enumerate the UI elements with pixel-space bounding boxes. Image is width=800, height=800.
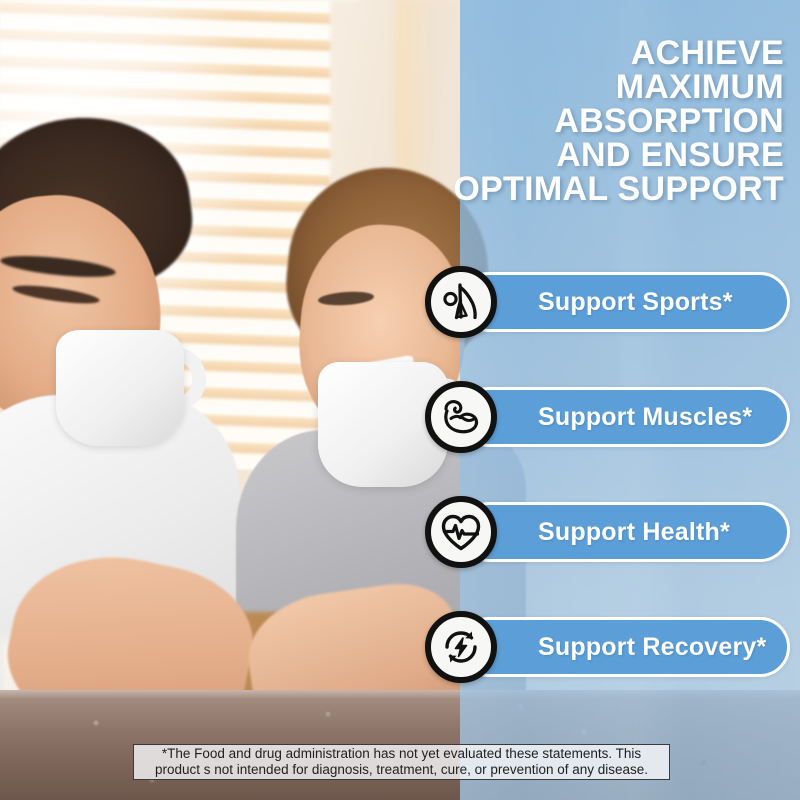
- feature-pill-sports[interactable]: Support Sports*: [459, 272, 790, 332]
- feature-pill-recovery[interactable]: Support Recovery*: [459, 617, 790, 677]
- feature-pill-muscles[interactable]: Support Muscles*: [459, 387, 790, 447]
- feature-label-health: Support Health*: [538, 518, 730, 547]
- refresh-lightning-icon: [425, 611, 497, 683]
- feature-label-sports: Support Sports*: [538, 288, 733, 317]
- headline-line-3: ABSORPTION: [434, 104, 784, 138]
- headline: ACHIEVE MAXIMUM ABSORPTION AND ENSURE OP…: [434, 36, 784, 206]
- headline-line-1: ACHIEVE: [434, 36, 784, 70]
- headline-line-2: MAXIMUM: [434, 70, 784, 104]
- flexed-bicep-icon: [425, 381, 497, 453]
- feature-item-sports[interactable]: Support Sports*: [425, 266, 800, 338]
- heart-pulse-icon: [425, 496, 497, 568]
- feature-label-muscles: Support Muscles*: [538, 403, 752, 432]
- headline-line-4: AND ENSURE: [434, 138, 784, 172]
- feature-item-health[interactable]: Support Health*: [425, 496, 800, 568]
- stretching-figure-icon: [425, 266, 497, 338]
- disclaimer-text: *The Food and drug administration has no…: [142, 746, 661, 778]
- man-mug: [56, 330, 184, 446]
- feature-item-muscles[interactable]: Support Muscles*: [425, 381, 800, 453]
- feature-pill-health[interactable]: Support Health*: [459, 502, 790, 562]
- feature-list: Support Sports* Support Muscles*: [425, 266, 800, 686]
- feature-label-recovery: Support Recovery*: [538, 633, 766, 662]
- headline-line-5: OPTIMAL SUPPORT: [434, 172, 784, 206]
- promo-banner: ACHIEVE MAXIMUM ABSORPTION AND ENSURE OP…: [0, 0, 800, 800]
- feature-item-recovery[interactable]: Support Recovery*: [425, 611, 800, 683]
- disclaimer-box: *The Food and drug administration has no…: [133, 744, 670, 780]
- disclaimer-line-2: s not intended for diagnosis, treatment,…: [204, 762, 648, 777]
